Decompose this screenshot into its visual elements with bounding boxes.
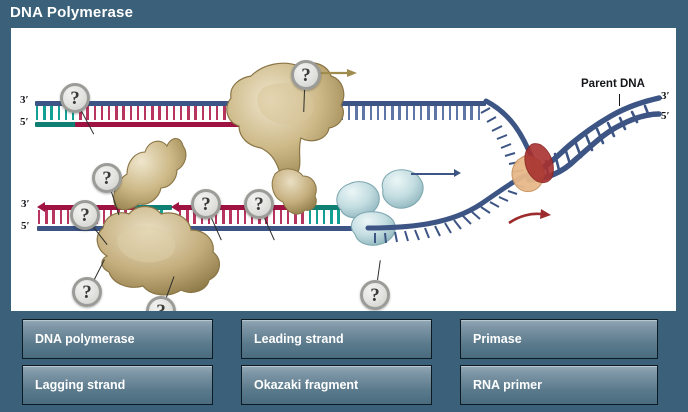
question-marker-q2[interactable]: ? [291, 60, 321, 90]
lagging-template-backbone-left [37, 226, 172, 231]
answer-bank: DNA polymerase Leading strand Primase La… [0, 313, 688, 412]
question-leader-q8 [166, 276, 175, 297]
question-marker-q4[interactable]: ? [70, 200, 100, 230]
answer-option-okazaki-fragment[interactable]: Okazaki fragment [241, 365, 432, 405]
lagging-mid-3prime-label: 3′ [132, 187, 141, 199]
lagging-base-pairs-left [37, 210, 172, 224]
answer-option-rna-primer[interactable]: RNA primer [460, 365, 658, 405]
page-title: DNA Polymerase [10, 4, 133, 21]
helicase-ring-shape [512, 144, 553, 192]
parent-dna-rungs [538, 106, 649, 178]
question-leader-q9 [377, 260, 381, 280]
leading-synthesis-arrowhead [289, 119, 297, 129]
leading-rna-primer [35, 122, 76, 127]
answer-bank-row-1: DNA polymerase Leading strand Primase [0, 319, 688, 361]
parent-dna-3prime-label: 3′ [661, 90, 670, 102]
dna-polymerase-activity: DNA Polymerase 3′ 5′ 3′ [0, 0, 688, 412]
leading-polymerase-3prime-label: 3′ [302, 115, 311, 127]
parent-dna-helix [529, 98, 659, 180]
question-marker-q1[interactable]: ? [60, 83, 90, 113]
fork-direction-arrow [411, 173, 455, 175]
question-leader-q7 [94, 259, 105, 279]
lagging-right-5prime-label: 5′ [348, 198, 357, 210]
leading-base-pairs-right [311, 106, 486, 120]
lagging-movement-arrow [120, 270, 154, 272]
app-header: DNA Polymerase [0, 0, 688, 28]
unwinding-arrowhead [540, 209, 551, 219]
lagging-bottom-left-5prime-label: 5′ [21, 220, 30, 232]
fork-direction-arrowhead [454, 169, 461, 177]
question-leader-q2 [303, 90, 305, 112]
parent-dna-label: Parent DNA [581, 78, 645, 90]
diagram-canvas: 3′ 5′ 3′ 3′ 5′ 5′ 3′ 5′ [11, 28, 676, 311]
answer-bank-row-2: Lagging strand Okazaki fragment RNA prim… [0, 365, 688, 407]
parent-dna-leader [619, 94, 620, 106]
question-marker-q9[interactable]: ? [360, 280, 390, 310]
lagging-template-backbone-right [178, 226, 368, 231]
answer-option-dna-polymerase[interactable]: DNA polymerase [22, 319, 213, 359]
question-marker-q7[interactable]: ? [72, 277, 102, 307]
question-marker-q3[interactable]: ? [92, 163, 122, 193]
leading-new-strand [75, 122, 290, 127]
diagram-stage: 3′ 5′ 3′ 3′ 5′ 5′ 3′ 5′ [11, 28, 676, 311]
answer-option-primase[interactable]: Primase [460, 319, 658, 359]
leading-movement-arrow-group [317, 69, 357, 77]
parent-dna-5prime-label: 5′ [661, 110, 670, 122]
question-marker-q8[interactable]: ? [146, 296, 176, 311]
answer-option-leading-strand[interactable]: Leading strand [241, 319, 432, 359]
replication-fork-shape [368, 101, 535, 228]
fork-base-ticks [375, 108, 525, 243]
leading-bottom-left-5prime-label: 5′ [20, 116, 29, 128]
question-marker-q5[interactable]: ? [191, 189, 221, 219]
lagging-top-left-3prime-label: 3′ [21, 198, 30, 210]
answer-option-lagging-strand[interactable]: Lagging strand [22, 365, 213, 405]
question-marker-q6[interactable]: ? [244, 189, 274, 219]
unwinding-arrow [509, 214, 541, 223]
leading-top-left-3prime-label: 3′ [20, 94, 29, 106]
